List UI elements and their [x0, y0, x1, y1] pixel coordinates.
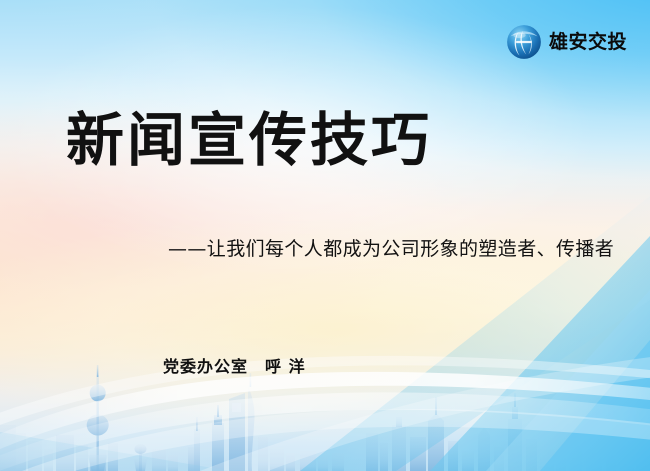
- background-center-highlight: [0, 0, 650, 471]
- background-sky-blue-glow: [0, 0, 650, 471]
- page-title: 新闻宣传技巧: [66, 108, 432, 173]
- company-wordmark: 雄安交投: [549, 33, 627, 52]
- presenter-line: 党委办公室 呼 洋: [163, 357, 306, 376]
- background-warm-pink-glow: [0, 0, 650, 471]
- xiongan-jiaotou-logo-icon: [506, 24, 542, 60]
- background-warm-peach-glow: [0, 0, 650, 471]
- presentation-title-slide: 雄安交投 新闻宣传技巧 ——让我们每个人都成为公司形象的塑造者、传播者 党委办公…: [0, 0, 650, 471]
- background-warm-yellow-glow: [0, 0, 650, 471]
- company-logo: 雄安交投: [506, 24, 627, 60]
- city-skyline-silhouette: [0, 363, 650, 471]
- curved-ribbon-arcs: [0, 0, 650, 471]
- background-base-gradient: [0, 0, 650, 471]
- slide-subtitle: ——让我们每个人都成为公司形象的塑造者、传播者: [168, 238, 614, 261]
